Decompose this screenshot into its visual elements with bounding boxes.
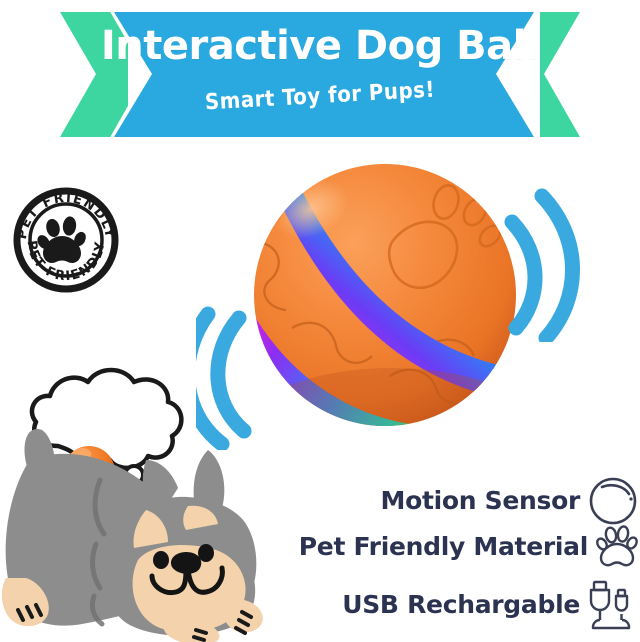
feature-item-usb-rechargable: USB Rechargable (272, 578, 640, 632)
feature-item-motion-sensor: Motion Sensor (272, 474, 640, 528)
feature-item-pet-friendly-material: Pet Friendly Material (272, 524, 640, 570)
header-banner: Interactive Dog Ball Smart Toy for Pups! (0, 0, 640, 145)
feature-label-usb-rechargable: USB Rechargable (342, 590, 580, 620)
motion-wave-right-outer (542, 196, 573, 338)
motion-wave-right-inner (512, 222, 535, 328)
paw-icon (594, 524, 640, 570)
badge-paw-icon (35, 216, 88, 263)
banner-body (114, 12, 534, 137)
pet-friendly-badge: PET FRIENDLY PET FRIENDLY (12, 186, 120, 294)
feature-list: Motion Sensor Pet Friendly Material US (272, 462, 640, 640)
motion-wave-right-group (498, 182, 613, 342)
ball-icon (586, 474, 640, 528)
dog-illustration (0, 338, 286, 642)
usb-cable-icon (586, 578, 640, 632)
feature-label-pet-friendly-material: Pet Friendly Material (299, 532, 588, 562)
banner-tail-left (60, 12, 128, 137)
banner-ribbon-graphic (0, 0, 640, 145)
infographic-canvas: Interactive Dog Ball Smart Toy for Pups!… (0, 0, 640, 640)
dog-eye-left (153, 551, 169, 569)
feature-label-motion-sensor: Motion Sensor (381, 486, 581, 516)
